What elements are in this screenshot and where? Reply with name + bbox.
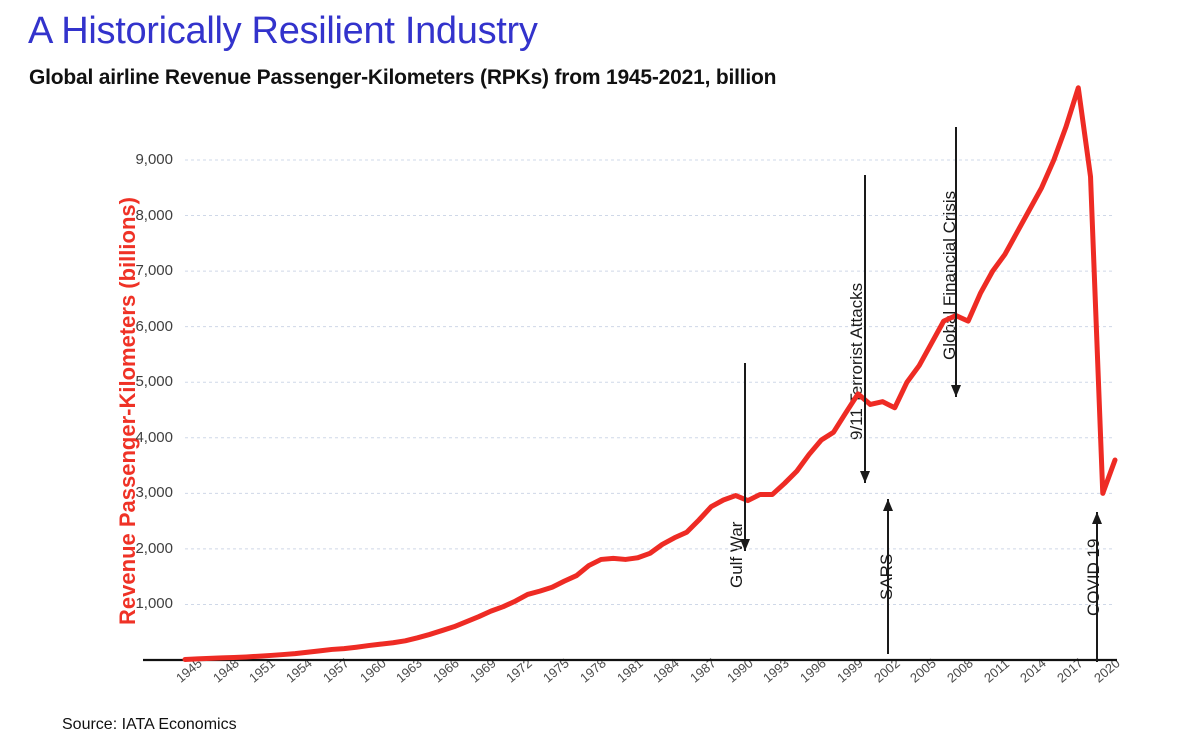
- annotation-arrowhead-sept-11: [860, 471, 870, 483]
- data-series-line: [185, 88, 1115, 660]
- annotation-arrowhead-gfc: [951, 385, 961, 397]
- plot-canvas: [0, 0, 1177, 753]
- slide-root: A Historically Resilient Industry Global…: [0, 0, 1177, 753]
- source-note: Source: IATA Economics: [62, 716, 237, 734]
- annotation-arrowhead-sars: [883, 499, 893, 511]
- annotation-arrowhead-gulf-war: [740, 539, 750, 551]
- line-chart: Revenue Passenger-Kilometers (billions) …: [0, 0, 1177, 753]
- annotation-arrowhead-covid-19: [1092, 512, 1102, 524]
